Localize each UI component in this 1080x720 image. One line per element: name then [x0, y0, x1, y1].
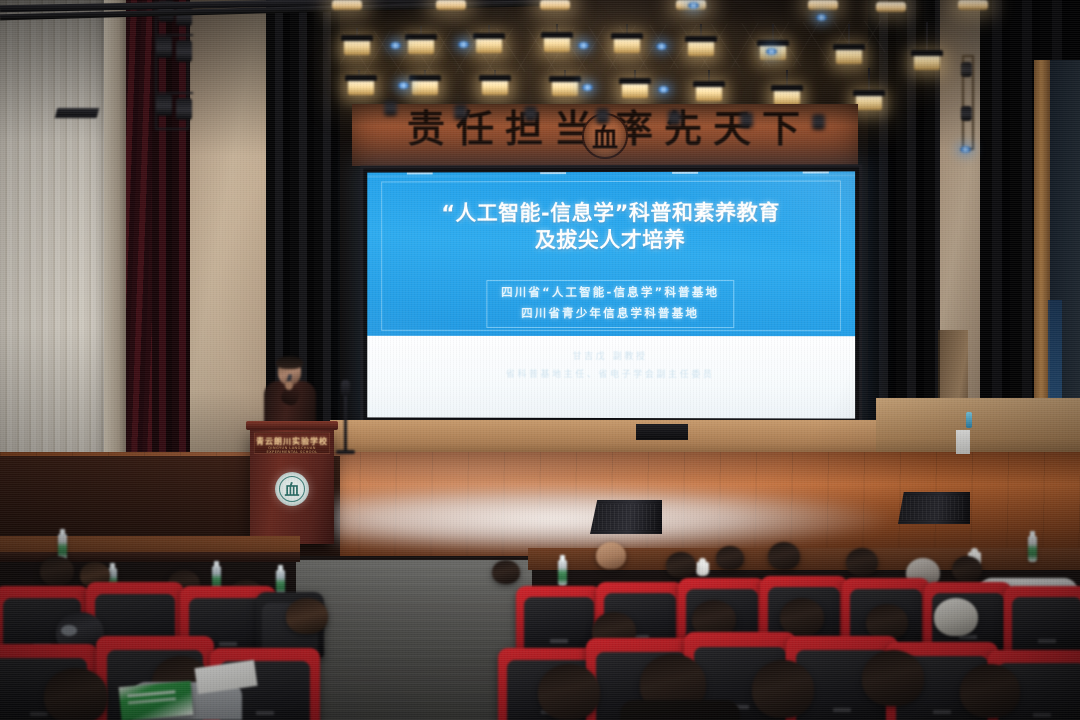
green-booklet — [119, 681, 194, 720]
spotlight-fixture — [176, 98, 192, 120]
stage-lamp — [544, 37, 570, 52]
stage-lamp — [688, 41, 714, 56]
audience-head — [752, 660, 814, 718]
spotlight-fixture — [176, 40, 192, 62]
stage-wood-back-wall-right — [876, 398, 1080, 460]
slide-title-line-1: “人工智能-信息学”科普和素养教育 — [367, 200, 855, 228]
audience-head — [768, 542, 800, 570]
paper-cup — [696, 562, 709, 576]
water-bottle — [558, 560, 567, 586]
ceiling-lamp — [876, 2, 906, 12]
slide-presenter-title: 省科普基地主任、省电子学会副主任委员 — [367, 366, 855, 386]
audience-head — [862, 650, 924, 706]
audience-shoulder — [620, 700, 740, 720]
audience-head — [596, 542, 626, 569]
blue-accent-light — [960, 146, 971, 153]
slide-presenter-block: 甘吉戊 副教授 省科普基地主任、省电子学会副主任委员 — [367, 347, 855, 385]
led-panel-tick — [803, 171, 829, 173]
spotlight-fixture — [812, 114, 825, 130]
blue-accent-light — [658, 86, 669, 93]
ceiling-lamp — [808, 0, 838, 10]
audience-head — [952, 556, 982, 582]
audience-head — [866, 604, 908, 640]
stage-lamp — [696, 86, 722, 101]
spotlight-fixture — [740, 112, 753, 128]
audience-head-light-cap — [934, 598, 978, 636]
slide-subtitle-line-2: 四川省青少年信息学科普基地 — [367, 303, 855, 324]
led-panel-tick — [407, 171, 433, 174]
spotlight-fixture — [961, 106, 972, 121]
blue-accent-light — [578, 42, 589, 49]
stage-lamp — [476, 38, 502, 53]
spotlight-fixture — [961, 62, 972, 77]
ceiling-lamp — [958, 0, 988, 10]
blue-accent-light — [816, 14, 827, 21]
blue-accent-light — [398, 82, 409, 89]
slide-subtitle: 四川省“人工智能-信息学”科普基地 四川省青少年信息学科普基地 — [367, 282, 855, 325]
audience-head — [44, 668, 108, 720]
spotlight-fixture — [596, 108, 609, 124]
center-aisle-carpet — [296, 560, 532, 720]
stage-white-object — [956, 430, 970, 454]
led-screen: “人工智能-信息学”科普和素养教育 及拔尖人才培养 四川省“人工智能-信息学”科… — [363, 167, 859, 422]
stage-lamp — [348, 80, 374, 95]
spotlight-fixture — [668, 110, 681, 126]
stage-lamp — [408, 39, 434, 54]
theater-seat — [1004, 586, 1080, 654]
audience-head — [666, 552, 696, 578]
slide-title-line-2: 及拔尖人才培养 — [367, 227, 855, 255]
stage-lamp — [836, 49, 862, 64]
stage-blue-bottle — [966, 412, 972, 428]
slide-subtitle-line-1: 四川省“人工智能-信息学”科普基地 — [367, 282, 855, 303]
stage-lamp — [614, 38, 640, 53]
presenter-hair — [276, 356, 303, 369]
spotlight-fixture — [156, 36, 172, 58]
audience-head — [846, 548, 878, 576]
slide-surface: “人工智能-信息学”科普和素养教育 及拔尖人才培养 四川省“人工智能-信息学”科… — [367, 171, 855, 418]
podium-school-name-pinyin: QINGYUN LANGCHUAN EXPERIMENTAL SCHOOL — [255, 446, 329, 454]
water-bottle — [1028, 536, 1037, 562]
stage-lamp — [412, 80, 438, 95]
slide-blue-area: “人工智能-信息学”科普和素养教育 及拔尖人才培养 四川省“人工智能-信息学”科… — [367, 171, 855, 335]
blue-accent-light — [688, 2, 699, 9]
stage-lamp — [344, 40, 370, 55]
audience-head — [716, 546, 744, 570]
slide-presenter-name: 甘吉戊 副教授 — [367, 347, 855, 366]
presenter-hand — [285, 381, 293, 390]
podium-name-plate: 青云朗川实验学校 QINGYUN LANGCHUAN EXPERIMENTAL … — [254, 432, 330, 454]
stage-lamp — [914, 55, 940, 70]
led-panel-tick — [540, 171, 566, 174]
podium-laptop — [55, 108, 99, 118]
blue-accent-light — [390, 42, 401, 49]
spotlight-fixture — [156, 94, 172, 116]
stage-lamp — [482, 80, 508, 95]
audience-head — [286, 598, 328, 634]
stage-lamp — [856, 95, 882, 110]
blue-accent-light — [656, 43, 667, 50]
spotlight-fixture — [384, 100, 397, 116]
blue-accent-light — [458, 41, 469, 48]
spotlight-fixture — [454, 104, 467, 120]
led-panel-seam — [367, 174, 855, 177]
stage-lamp — [774, 90, 800, 105]
auditorium-photo-scene: 责任担当 率先天下 血 “人工智能-信息学”科普和素养教育 及拔尖人才培养 — [0, 0, 1080, 720]
slide-title: “人工智能-信息学”科普和素养教育 及拔尖人才培养 — [367, 200, 855, 255]
podium-top-surface — [246, 421, 338, 430]
right-wall-blue-panel — [1048, 300, 1062, 412]
blue-accent-light — [766, 48, 777, 55]
ceiling-lamp — [436, 0, 466, 10]
podium: 青云朗川实验学校 QINGYUN LANGCHUAN EXPERIMENTAL … — [250, 428, 334, 544]
spotlight-fixture — [524, 106, 537, 122]
audience-head — [492, 560, 520, 584]
audience-head — [960, 664, 1020, 718]
ceiling-lamp — [332, 0, 362, 10]
stage-side-table — [636, 424, 688, 440]
stage-lamp — [552, 81, 578, 96]
stage-lamp — [622, 83, 648, 98]
microphone-stand — [344, 392, 347, 452]
ceiling-lamp — [540, 0, 570, 10]
school-emblem-icon: 血 — [275, 472, 309, 506]
stage-monitor-speaker — [590, 500, 662, 534]
audience-head — [780, 598, 824, 636]
led-panel-tick — [672, 171, 698, 173]
slide-white-area: 甘吉戊 副教授 省科普基地主任、省电子学会副主任委员 — [367, 335, 855, 418]
audience-head — [40, 556, 74, 586]
audience-head — [538, 664, 600, 720]
blue-accent-light — [582, 84, 593, 91]
stage-monitor-speaker — [898, 492, 970, 524]
school-emblem-glyph: 血 — [279, 476, 305, 502]
